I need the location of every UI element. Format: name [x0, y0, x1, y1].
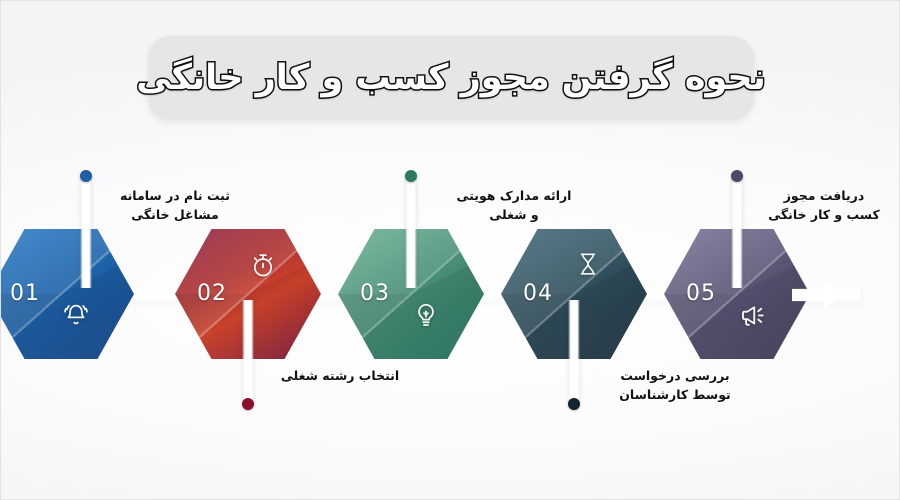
- connector-stem-2: [242, 300, 254, 404]
- connector-dot-4: [568, 398, 580, 410]
- connector-dot-5: [731, 170, 743, 182]
- connector-stem-3: [405, 176, 417, 288]
- bell-icon: [62, 301, 90, 333]
- lightbulb-icon: [412, 301, 440, 333]
- connector-stem-1: [80, 176, 92, 288]
- step-number-3: 03: [360, 281, 390, 306]
- step-number-1: 01: [10, 281, 40, 306]
- infographic-canvas: نحوه گرفتن مجوز کسب و کار خانگی ثبت نام …: [0, 0, 900, 500]
- step-number-5: 05: [686, 281, 716, 306]
- connector-stem-4: [568, 300, 580, 404]
- connector-stem-5: [731, 176, 743, 288]
- step-label-4: بررسی درخواست توسط کارشناسان: [594, 366, 756, 405]
- connector-dot-2: [242, 398, 254, 410]
- step-label-1: ثبت نام در سامانه مشاغل خانگی: [100, 186, 250, 225]
- step-number-4: 04: [523, 281, 553, 306]
- page-title: نحوه گرفتن مجوز کسب و کار خانگی: [148, 36, 754, 120]
- step-label-3: ارائه مدارک هویتی و شغلی: [440, 186, 588, 225]
- step-hexagon-1[interactable]: 01: [0, 229, 134, 359]
- megaphone-icon: [738, 301, 768, 335]
- connector-dot-1: [80, 170, 92, 182]
- step-number-2: 02: [197, 281, 227, 306]
- step-label-5: دریافت مجوز کسب و کار خانگی: [752, 186, 896, 225]
- connector-dot-3: [405, 170, 417, 182]
- hourglass-icon: [575, 251, 601, 281]
- stopwatch-icon: [249, 251, 277, 283]
- step-label-2: انتخاب رشته شغلی: [262, 366, 418, 385]
